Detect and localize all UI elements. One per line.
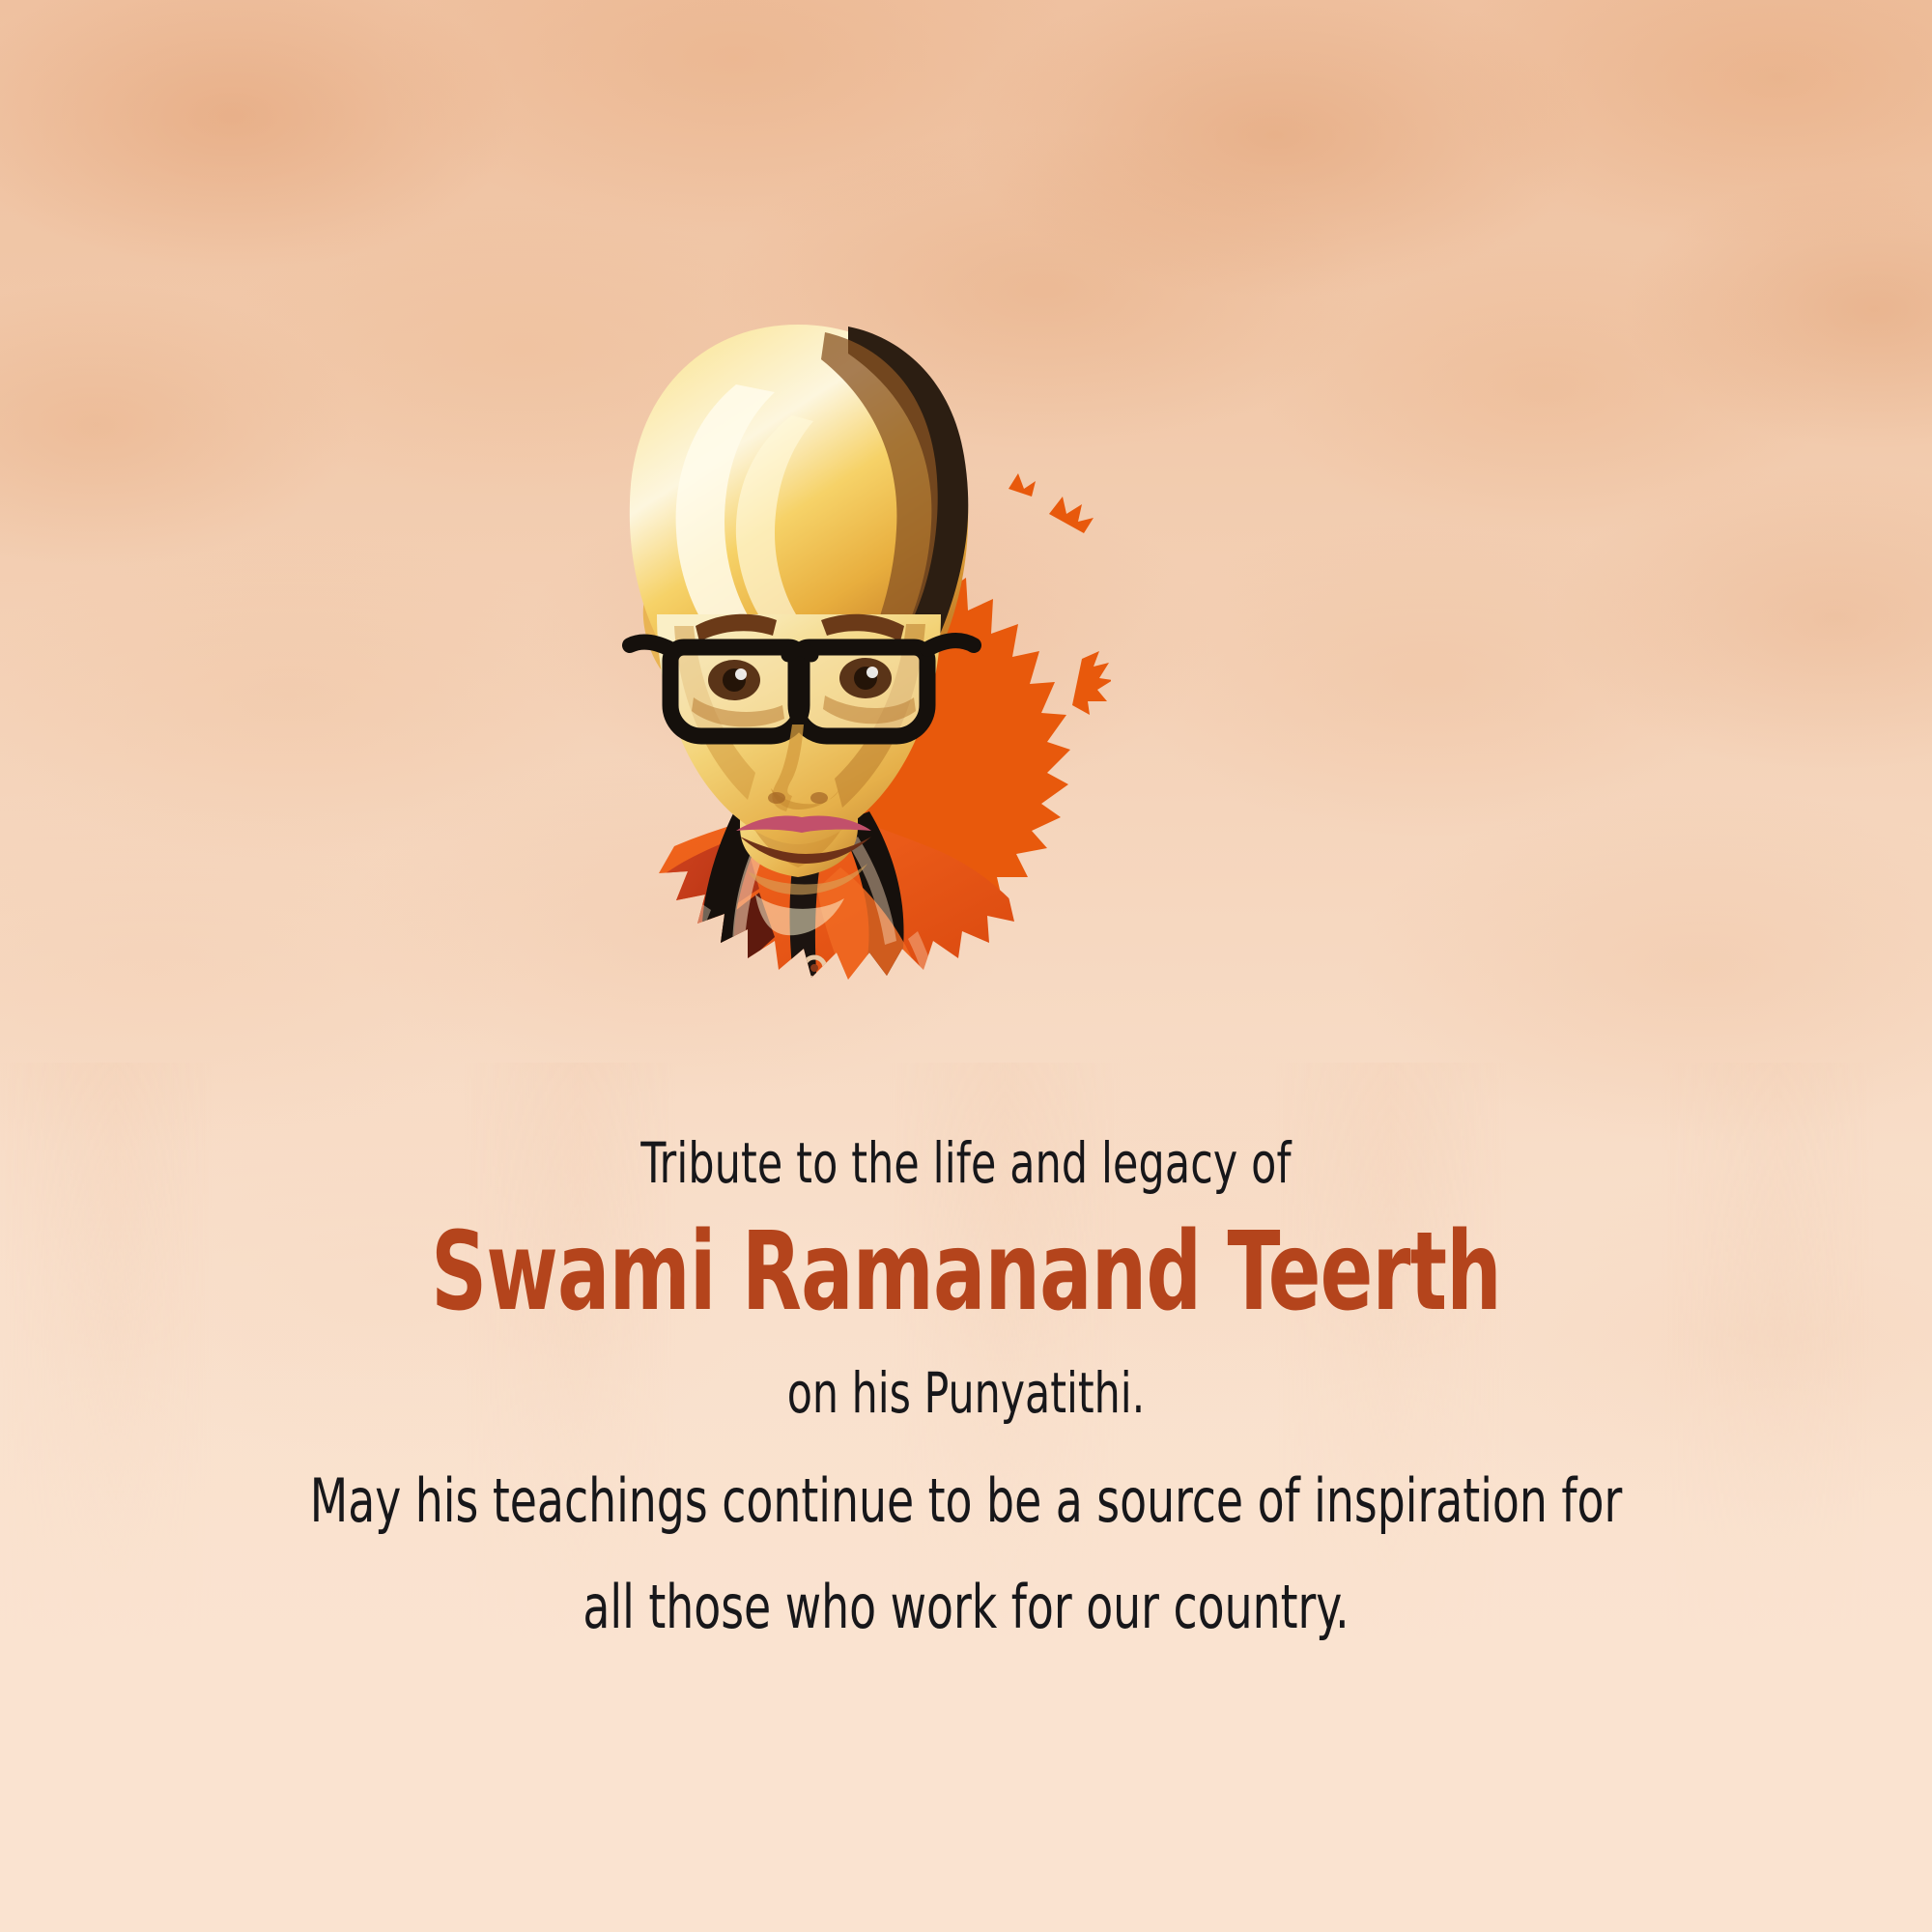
- glasses-icon: [630, 640, 974, 736]
- portrait-svg: [415, 270, 1111, 1140]
- tribute-poster: Tribute to the life and legacy of Swami …: [0, 0, 1932, 1932]
- honoree-name: Swami Ramanand Teerth: [193, 1218, 1739, 1326]
- portrait-illustration: [415, 270, 1111, 1140]
- message-line-1: May his teachings continue to be a sourc…: [174, 1471, 1758, 1531]
- message-line-2: all those who work for our country.: [174, 1577, 1758, 1637]
- tribute-line: Tribute to the life and legacy of: [174, 1135, 1758, 1191]
- occasion-line: on his Punyatithi.: [174, 1365, 1758, 1421]
- tribute-text-block: Tribute to the life and legacy of Swami …: [0, 1135, 1932, 1637]
